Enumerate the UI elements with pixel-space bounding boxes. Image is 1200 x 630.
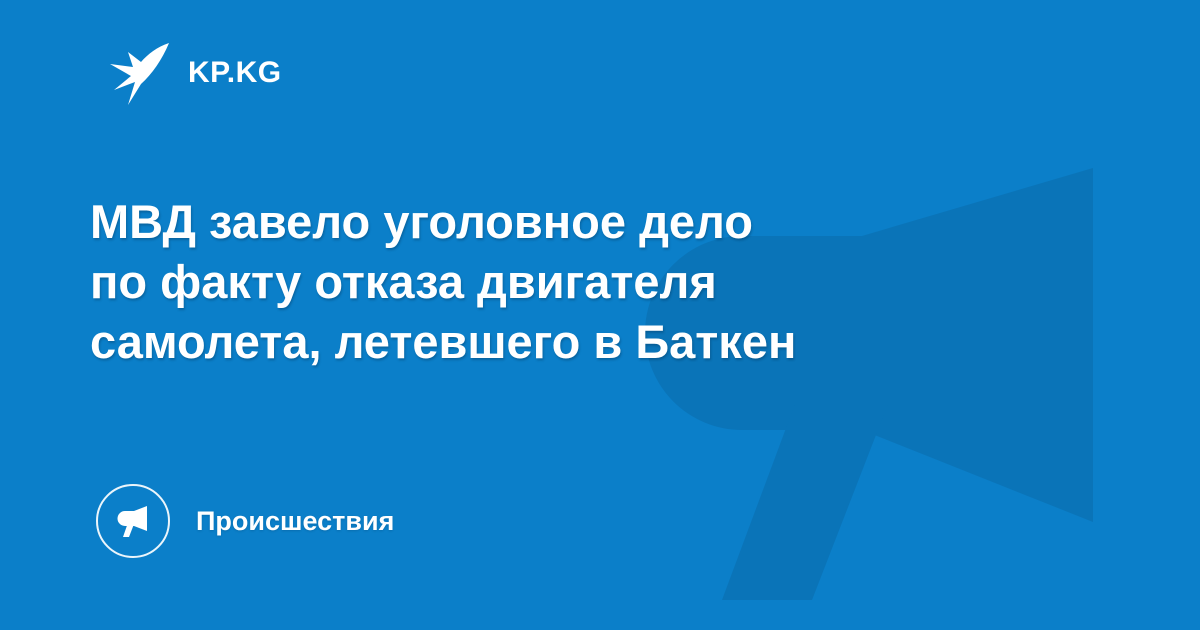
swallow-bird-icon xyxy=(108,40,170,106)
brand-logo[interactable]: KP.KG xyxy=(108,40,282,106)
megaphone-icon xyxy=(114,502,152,540)
headline-line-1: МВД завело уголовное дело xyxy=(90,192,1100,252)
headline: МВД завело уголовное дело по факту отказ… xyxy=(90,192,1100,372)
headline-line-3: самолета, летевшего в Баткен xyxy=(90,312,1100,372)
category-label: Происшествия xyxy=(196,508,394,535)
brand-wordmark: KP.KG xyxy=(188,58,282,88)
category-icon-circle xyxy=(96,484,170,558)
share-card: KP.KG МВД завело уголовное дело по факту… xyxy=(0,0,1200,630)
headline-line-2: по факту отказа двигателя xyxy=(90,252,1100,312)
category-badge[interactable]: Происшествия xyxy=(96,484,394,558)
